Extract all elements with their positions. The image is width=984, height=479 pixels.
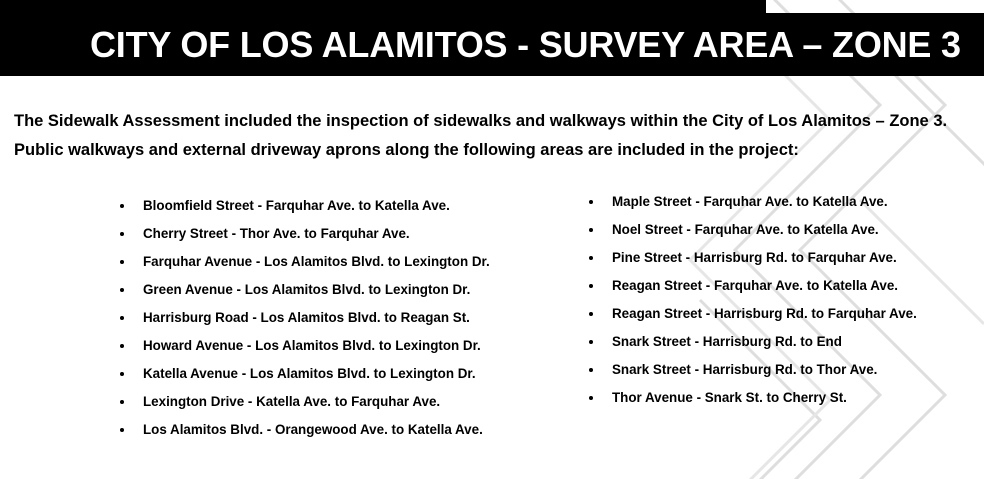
list-item: Lexington Drive - Katella Ave. to Farquh… — [120, 388, 560, 416]
bullet-icon — [120, 372, 124, 376]
list-item: Farquhar Avenue - Los Alamitos Blvd. to … — [120, 248, 560, 276]
list-item: Maple Street - Farquhar Ave. to Katella … — [589, 188, 984, 216]
top-black-strip — [0, 0, 766, 13]
bullet-icon — [120, 288, 124, 292]
page-title: CITY OF LOS ALAMITOS - SURVEY AREA – ZON… — [90, 13, 900, 76]
list-item: Snark Street - Harrisburg Rd. to End — [589, 328, 984, 356]
street-list-right-column: Maple Street - Farquhar Ave. to Katella … — [589, 188, 984, 412]
street-list-left-column: Bloomfield Street - Farquhar Ave. to Kat… — [120, 192, 560, 444]
list-item-label: Snark Street - Harrisburg Rd. to End — [612, 334, 842, 349]
list-item-label: Cherry Street - Thor Ave. to Farquhar Av… — [143, 226, 410, 241]
list-item: Cherry Street - Thor Ave. to Farquhar Av… — [120, 220, 560, 248]
list-item: Green Avenue - Los Alamitos Blvd. to Lex… — [120, 276, 560, 304]
list-item: Thor Avenue - Snark St. to Cherry St. — [589, 384, 984, 412]
bullet-icon — [120, 204, 124, 208]
bullet-icon — [120, 344, 124, 348]
bullet-icon — [120, 260, 124, 264]
bullet-icon — [589, 368, 593, 372]
bullet-icon — [589, 284, 593, 288]
list-item-label: Thor Avenue - Snark St. to Cherry St. — [612, 390, 847, 405]
list-item: Howard Avenue - Los Alamitos Blvd. to Le… — [120, 332, 560, 360]
list-item: Pine Street - Harrisburg Rd. to Farquhar… — [589, 244, 984, 272]
list-item: Snark Street - Harrisburg Rd. to Thor Av… — [589, 356, 984, 384]
bullet-icon — [589, 200, 593, 204]
list-item-label: Pine Street - Harrisburg Rd. to Farquhar… — [612, 250, 897, 265]
title-banner: CITY OF LOS ALAMITOS - SURVEY AREA – ZON… — [0, 13, 984, 76]
intro-paragraph: The Sidewalk Assessment included the ins… — [14, 107, 964, 165]
bullet-icon — [589, 340, 593, 344]
list-item-label: Farquhar Avenue - Los Alamitos Blvd. to … — [143, 254, 490, 269]
list-item-label: Reagan Street - Farquhar Ave. to Katella… — [612, 278, 898, 293]
list-item: Harrisburg Road - Los Alamitos Blvd. to … — [120, 304, 560, 332]
list-item: Katella Avenue - Los Alamitos Blvd. to L… — [120, 360, 560, 388]
list-item-label: Los Alamitos Blvd. - Orangewood Ave. to … — [143, 422, 483, 437]
list-item-label: Reagan Street - Harrisburg Rd. to Farquh… — [612, 306, 917, 321]
list-item: Noel Street - Farquhar Ave. to Katella A… — [589, 216, 984, 244]
list-item-label: Howard Avenue - Los Alamitos Blvd. to Le… — [143, 338, 481, 353]
bullet-icon — [120, 400, 124, 404]
list-item-label: Snark Street - Harrisburg Rd. to Thor Av… — [612, 362, 877, 377]
list-item-label: Noel Street - Farquhar Ave. to Katella A… — [612, 222, 879, 237]
list-item: Reagan Street - Farquhar Ave. to Katella… — [589, 272, 984, 300]
list-item-label: Katella Avenue - Los Alamitos Blvd. to L… — [143, 366, 476, 381]
bullet-icon — [589, 312, 593, 316]
list-item-label: Maple Street - Farquhar Ave. to Katella … — [612, 194, 888, 209]
bullet-icon — [120, 316, 124, 320]
list-item: Bloomfield Street - Farquhar Ave. to Kat… — [120, 192, 560, 220]
list-item: Los Alamitos Blvd. - Orangewood Ave. to … — [120, 416, 560, 444]
bullet-icon — [120, 428, 124, 432]
list-item-label: Bloomfield Street - Farquhar Ave. to Kat… — [143, 198, 450, 213]
list-item: Reagan Street - Harrisburg Rd. to Farquh… — [589, 300, 984, 328]
list-item-label: Harrisburg Road - Los Alamitos Blvd. to … — [143, 310, 470, 325]
bullet-icon — [589, 228, 593, 232]
bullet-icon — [589, 256, 593, 260]
list-item-label: Green Avenue - Los Alamitos Blvd. to Lex… — [143, 282, 470, 297]
bullet-icon — [589, 396, 593, 400]
list-item-label: Lexington Drive - Katella Ave. to Farquh… — [143, 394, 440, 409]
bullet-icon — [120, 232, 124, 236]
